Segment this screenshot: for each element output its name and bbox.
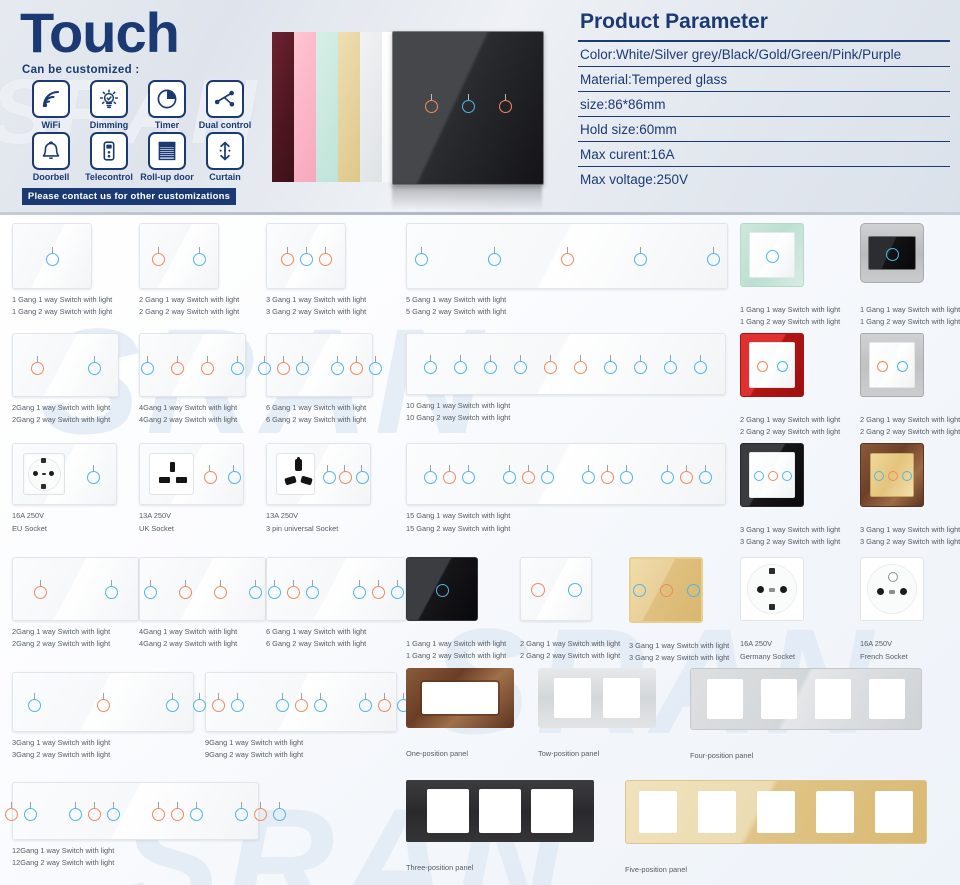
touch-button[interactable]	[424, 355, 437, 373]
socket-germany	[740, 557, 804, 621]
product-caption-line2: Germany Socket	[740, 651, 804, 662]
product-card[interactable]: 12Gang 1 way Switch with light 12Gang 2 …	[12, 782, 259, 868]
feature-label: Timer	[138, 120, 196, 130]
touch-button[interactable]	[634, 355, 647, 373]
touch-button[interactable]	[488, 247, 501, 265]
touch-button[interactable]	[886, 248, 899, 259]
brand-block: Touch Can be customized : WiFi	[8, 4, 248, 205]
touch-button[interactable]	[254, 802, 267, 820]
touch-button[interactable]	[276, 693, 289, 711]
touch-button[interactable]	[391, 580, 404, 598]
touch-button[interactable]	[499, 94, 512, 112]
product-caption-line1: 2 Gang 1 way Switch with light	[740, 414, 840, 425]
remote-control-icon	[90, 132, 128, 170]
touch-button[interactable]	[5, 802, 18, 820]
switch-panel-4gang	[139, 333, 246, 397]
product-card[interactable]: 2 Gang 1 way Switch with light 2 Gang 2 …	[860, 333, 960, 437]
touch-button[interactable]	[31, 356, 44, 374]
touch-button[interactable]	[88, 356, 101, 374]
touch-button[interactable]	[777, 361, 787, 370]
touch-button[interactable]	[287, 580, 300, 598]
feature-timer[interactable]: Timer	[138, 80, 196, 130]
touch-button[interactable]	[152, 247, 165, 265]
product-caption-line2: 1 Gang 2 way Switch with light	[406, 650, 506, 661]
product-caption-line1: 4Gang 1 way Switch with light	[139, 626, 266, 637]
product-card[interactable]: 3Gang 1 way Switch with light 3Gang 2 wa…	[12, 672, 194, 760]
product-caption-line2: 3 Gang 2 way Switch with light	[860, 536, 960, 547]
param-hold-size: Hold size:60mm	[578, 116, 950, 141]
product-caption-line2: 5 Gang 2 way Switch with light	[406, 306, 728, 317]
touch-button[interactable]	[754, 471, 763, 479]
product-card[interactable]: 16A 250V EU Socket	[12, 443, 117, 534]
touch-button[interactable]	[171, 802, 184, 820]
product-caption-line1: 5 Gang 1 way Switch with light	[406, 294, 728, 305]
touch-button[interactable]	[484, 355, 497, 373]
touch-button[interactable]	[295, 693, 308, 711]
touch-button[interactable]	[171, 356, 184, 374]
touch-button[interactable]	[46, 247, 59, 265]
product-card[interactable]: One-position panel	[406, 668, 514, 759]
eu-socket-icon	[23, 453, 65, 495]
product-caption-line1: 13A 250V	[139, 510, 244, 521]
product-caption-line1: 6 Gang 1 way Switch with light	[266, 402, 373, 413]
touch-button[interactable]	[231, 693, 244, 711]
product-caption-line1: 15 Gang 1 way Switch with light	[406, 510, 726, 521]
product-caption-line1: 3 Gang 1 way Switch with light	[266, 294, 366, 305]
frame-one-position	[406, 668, 514, 728]
feature-rollup-door[interactable]: Roll-up door	[138, 132, 196, 182]
product-card[interactable]: 10 Gang 1 way Switch with light 10 Gang …	[406, 333, 726, 423]
product-caption-line1: 16A 250V	[740, 638, 804, 649]
touch-button[interactable]	[561, 247, 574, 265]
touch-button[interactable]	[107, 802, 120, 820]
product-caption-line2: French Socket	[860, 651, 924, 662]
touch-button[interactable]	[144, 580, 157, 598]
product-caption-line2: UK Socket	[139, 523, 244, 534]
touch-button[interactable]	[69, 802, 82, 820]
feature-label: Dual control	[196, 120, 254, 130]
socket-panel-eu	[12, 443, 117, 505]
product-caption-line2: 3 pin universal Socket	[266, 523, 371, 534]
feature-label: Roll-up door	[138, 172, 196, 182]
product-caption-line1: 1 Gang 1 way Switch with light	[860, 304, 960, 315]
product-caption-line1: 2 Gang 1 way Switch with light	[139, 294, 239, 305]
touch-button[interactable]	[331, 356, 344, 374]
product-card[interactable]: 3 Gang 1 way Switch with light 3 Gang 2 …	[740, 443, 840, 547]
touch-button[interactable]	[531, 583, 544, 596]
product-caption-line2: 3 Gang 2 way Switch with light	[629, 652, 729, 663]
product-caption-line2: 10 Gang 2 way Switch with light	[406, 412, 726, 423]
touch-button[interactable]	[231, 356, 244, 374]
product-caption-line2: 2 Gang 2 way Switch with light	[139, 306, 239, 317]
product-card[interactable]: 4Gang 1 way Switch with light 4Gang 2 wa…	[139, 333, 246, 425]
switch-panel-2gang	[139, 223, 219, 289]
product-caption-line1: 16A 250V	[12, 510, 117, 521]
product-card[interactable]: 3 Gang 1 way Switch with light 3 Gang 2 …	[629, 557, 729, 663]
product-caption-line2: 1 Gang 2 way Switch with light	[12, 306, 112, 317]
product-card[interactable]: 3 Gang 1 way Switch with light 3 Gang 2 …	[860, 443, 960, 547]
switch-panel-bronze-3gang	[860, 443, 924, 507]
product-catalog-page: SRAN Touch Can be customized : WiFi	[0, 0, 960, 885]
switch-panel-5gang	[406, 223, 728, 289]
touch-button[interactable]	[544, 355, 557, 373]
product-card[interactable]: 1 Gang 1 way Switch with light 1 Gang 2 …	[860, 223, 960, 327]
feature-label: Telecontrol	[80, 172, 138, 182]
product-card[interactable]: 5 Gang 1 way Switch with light 5 Gang 2 …	[406, 223, 728, 317]
product-card[interactable]: 2Gang 1 way Switch with light 2Gang 2 wa…	[12, 333, 119, 425]
touch-button[interactable]	[214, 580, 227, 598]
touch-button[interactable]	[34, 580, 47, 598]
product-caption-line2: 2 Gang 2 way Switch with light	[860, 426, 960, 437]
product-caption-line1: Four-position panel	[690, 750, 922, 761]
frame-two-position	[538, 668, 656, 728]
switch-panel-6gang-wide	[266, 557, 406, 621]
product-card[interactable]: 4Gang 1 way Switch with light 4Gang 2 wa…	[139, 557, 266, 649]
socket-panel-universal	[266, 443, 371, 505]
touch-button[interactable]	[273, 802, 286, 820]
touch-button[interactable]	[707, 247, 720, 265]
switch-panel-green-1gang	[740, 223, 804, 287]
product-caption-line1: 1 Gang 1 way Switch with light	[740, 304, 840, 315]
touch-button[interactable]	[24, 802, 37, 820]
switch-panel-1gang	[12, 223, 92, 289]
touch-button[interactable]	[359, 693, 372, 711]
product-card[interactable]: Tow-position panel	[538, 668, 656, 759]
hero-reflection	[392, 184, 542, 210]
params-title: Product Parameter	[580, 10, 950, 34]
switch-panel-10gang	[406, 333, 726, 395]
touch-button[interactable]	[766, 250, 779, 261]
param-color: Color:White/Silver grey/Black/Gold/Green…	[578, 40, 950, 66]
touch-button[interactable]	[582, 465, 595, 483]
touch-button[interactable]	[281, 247, 294, 265]
touch-button[interactable]	[204, 465, 216, 483]
product-caption-line2: 4Gang 2 way Switch with light	[139, 414, 246, 425]
touch-button[interactable]	[97, 693, 110, 711]
product-card[interactable]: 13A 250V 3 pin universal Socket	[266, 443, 371, 534]
product-caption-line2: 2Gang 2 way Switch with light	[12, 638, 139, 649]
switch-panel-white-glass-2gang	[520, 557, 592, 621]
touch-button[interactable]	[877, 361, 887, 370]
switch-panel-3gang	[266, 223, 346, 289]
product-caption-line1: 9Gang 1 way Switch with light	[205, 737, 397, 748]
touch-button[interactable]	[633, 584, 645, 596]
switch-panel-2gang-wide2	[12, 557, 139, 621]
touch-button[interactable]	[249, 580, 262, 598]
socket-french	[860, 557, 924, 621]
touch-button[interactable]	[415, 247, 428, 265]
touch-button[interactable]	[687, 584, 699, 596]
touch-button[interactable]	[306, 580, 319, 598]
touch-button[interactable]	[604, 355, 617, 373]
product-caption-line2: 9Gang 2 way Switch with light	[205, 749, 397, 760]
touch-button[interactable]	[372, 580, 385, 598]
switch-panel-black-glass-1gang	[406, 557, 478, 621]
frame-five-position	[625, 780, 927, 844]
product-card[interactable]: 2 Gang 1 way Switch with light 2 Gang 2 …	[520, 557, 620, 661]
touch-button[interactable]	[888, 471, 897, 479]
touch-button[interactable]	[757, 361, 767, 370]
product-caption-line2: 2 Gang 2 way Switch with light	[740, 426, 840, 437]
hero-product-image	[250, 0, 580, 215]
touch-button[interactable]	[152, 802, 165, 820]
feature-doorbell[interactable]: Doorbell	[22, 132, 80, 182]
product-caption-line1: Tow-position panel	[538, 748, 656, 759]
product-caption-line2: 2Gang 2 way Switch with light	[12, 414, 119, 425]
touch-button[interactable]	[522, 465, 535, 483]
feature-dimming[interactable]: Dimming	[80, 80, 138, 130]
uk-socket-icon	[149, 453, 194, 495]
hero-black-switch-panel	[392, 31, 544, 185]
color-strip-purple	[272, 32, 294, 182]
touch-button[interactable]	[378, 693, 391, 711]
touch-button[interactable]	[193, 247, 206, 265]
switch-panel-red-2gang	[740, 333, 804, 397]
product-caption-line1: 2Gang 1 way Switch with light	[12, 626, 139, 637]
touch-button[interactable]	[541, 465, 554, 483]
touch-button[interactable]	[503, 465, 516, 483]
touch-button[interactable]	[296, 356, 309, 374]
switch-panel-gold-3gang	[629, 557, 703, 623]
product-parameter-panel: Product Parameter Color:White/Silver gre…	[578, 6, 950, 191]
product-caption-line2: 6 Gang 2 way Switch with light	[266, 414, 373, 425]
product-caption-line1: 16A 250V	[860, 638, 924, 649]
product-caption-line1: 2 Gang 1 way Switch with light	[520, 638, 620, 649]
color-strip-group	[272, 32, 404, 182]
product-card[interactable]: 2 Gang 1 way Switch with light 2 Gang 2 …	[740, 333, 840, 437]
product-caption-line2: 1 Gang 2 way Switch with light	[860, 316, 960, 327]
touch-button[interactable]	[874, 471, 883, 479]
feature-dual-control[interactable]: Dual control	[196, 80, 254, 130]
touch-button[interactable]	[462, 94, 475, 112]
touch-button[interactable]	[897, 361, 907, 370]
feature-label: Doorbell	[22, 172, 80, 182]
touch-button[interactable]	[424, 465, 437, 483]
color-strip-silver	[360, 32, 382, 182]
touch-button[interactable]	[661, 465, 674, 483]
frame-four-position	[690, 668, 922, 730]
doorbell-icon	[32, 132, 70, 170]
touch-button[interactable]	[694, 355, 707, 373]
product-card[interactable]: 1 Gang 1 way Switch with light 1 Gang 2 …	[406, 557, 506, 661]
timer-clock-icon	[148, 80, 186, 118]
feature-telecontrol[interactable]: Telecontrol	[80, 132, 138, 182]
switch-panel-steel-1gang	[860, 223, 924, 283]
switch-panel-12gang	[12, 782, 259, 840]
touch-button[interactable]	[680, 465, 693, 483]
feature-wifi[interactable]: WiFi	[22, 80, 80, 130]
product-caption-line1: 1 Gang 1 way Switch with light	[12, 294, 112, 305]
color-strip-gold	[338, 32, 360, 182]
touch-button[interactable]	[88, 802, 101, 820]
feature-label: Dimming	[80, 120, 138, 130]
touch-button[interactable]	[166, 693, 179, 711]
product-caption-line1: 1 Gang 1 way Switch with light	[406, 638, 506, 649]
product-card[interactable]: 2Gang 1 way Switch with light 2Gang 2 wa…	[12, 557, 139, 649]
touch-button[interactable]	[462, 465, 475, 483]
touch-button[interactable]	[699, 465, 712, 483]
touch-button[interactable]	[212, 693, 225, 711]
product-caption-line1: Five-position panel	[625, 864, 927, 875]
product-card[interactable]: Three-position panel	[406, 780, 594, 873]
touch-button[interactable]	[105, 580, 118, 598]
touch-button[interactable]	[514, 355, 527, 373]
product-card[interactable]: 16A 250V French Socket	[860, 557, 924, 662]
param-material: Material:Tempered glass	[578, 66, 950, 91]
touch-button[interactable]	[300, 247, 313, 265]
touch-button[interactable]	[228, 465, 240, 483]
touch-button[interactable]	[235, 802, 248, 820]
frame-three-position	[406, 780, 594, 842]
product-caption-line1: 3 Gang 1 way Switch with light	[860, 524, 960, 535]
hero-button-row	[393, 94, 543, 112]
touch-button[interactable]	[353, 580, 366, 598]
product-caption-line1: 3 Gang 1 way Switch with light	[629, 640, 729, 651]
touch-button[interactable]	[436, 584, 449, 595]
touch-button[interactable]	[268, 580, 281, 598]
switch-panel-2gang-wide	[12, 333, 119, 397]
product-caption-line1: 3 Gang 1 way Switch with light	[740, 524, 840, 535]
universal-socket-icon	[276, 453, 315, 495]
product-card[interactable]: 16A 250V Germany Socket	[740, 557, 804, 662]
product-caption-line2: EU Socket	[12, 523, 117, 534]
touch-button[interactable]	[782, 471, 791, 479]
product-caption-line2: 3 Gang 2 way Switch with light	[266, 306, 366, 317]
touch-button[interactable]	[141, 356, 154, 374]
product-card[interactable]: 15 Gang 1 way Switch with light 15 Gang …	[406, 443, 726, 534]
touch-button[interactable]	[190, 802, 203, 820]
touch-button[interactable]	[634, 247, 647, 265]
touch-button[interactable]	[768, 471, 777, 479]
product-caption-line1: 4Gang 1 way Switch with light	[139, 402, 246, 413]
header-banner: SRAN Touch Can be customized : WiFi	[0, 0, 960, 215]
touch-button[interactable]	[902, 471, 911, 479]
touch-button[interactable]	[568, 583, 581, 596]
product-card[interactable]: 6 Gang 1 way Switch with light 6 Gang 2 …	[266, 557, 406, 649]
touch-button[interactable]	[339, 465, 350, 483]
product-caption-line2: 15 Gang 2 way Switch with light	[406, 523, 726, 534]
dimming-bulb-icon	[90, 80, 128, 118]
switch-panel-black-3gang	[740, 443, 804, 507]
touch-button[interactable]	[350, 356, 363, 374]
curtain-updown-icon	[206, 132, 244, 170]
touch-button[interactable]	[314, 693, 327, 711]
touch-button[interactable]	[443, 465, 456, 483]
switch-panel-15gang	[406, 443, 726, 505]
roll-up-door-icon	[148, 132, 186, 170]
touch-button[interactable]	[28, 693, 41, 711]
product-card[interactable]: 3 Gang 1 way Switch with light 3 Gang 2 …	[266, 223, 366, 317]
param-max-voltage: Max voltage:250V	[578, 166, 950, 191]
switch-panel-3gang-wide	[12, 672, 194, 732]
touch-button[interactable]	[454, 355, 467, 373]
feature-curtain[interactable]: Curtain	[196, 132, 254, 182]
product-caption-line1: 12Gang 1 way Switch with light	[12, 845, 259, 856]
touch-button[interactable]	[369, 356, 382, 374]
switch-panel-4gang-wide	[139, 557, 266, 621]
touch-button[interactable]	[277, 356, 290, 374]
color-strip-pink	[294, 32, 316, 182]
touch-button[interactable]	[323, 465, 334, 483]
product-card[interactable]: 1 Gang 1 way Switch with light 1 Gang 2 …	[12, 223, 112, 317]
touch-button[interactable]	[574, 355, 587, 373]
touch-button[interactable]	[620, 465, 633, 483]
brand-title: Touch	[20, 4, 248, 62]
touch-button[interactable]	[319, 247, 332, 265]
product-caption-line1: 3Gang 1 way Switch with light	[12, 737, 194, 748]
product-caption-line2: 4Gang 2 way Switch with light	[139, 638, 266, 649]
wifi-icon	[32, 80, 70, 118]
switch-panel-9gang	[205, 672, 397, 732]
product-caption-line1: 10 Gang 1 way Switch with light	[406, 400, 726, 411]
contact-bar[interactable]: Please contact us for other customizatio…	[22, 188, 236, 205]
product-card[interactable]: 9Gang 1 way Switch with light 9Gang 2 wa…	[205, 672, 397, 760]
param-size: size:86*86mm	[578, 91, 950, 116]
product-card[interactable]: 2 Gang 1 way Switch with light 2 Gang 2 …	[139, 223, 239, 317]
touch-button[interactable]	[660, 584, 672, 596]
product-caption-line2: 2 Gang 2 way Switch with light	[520, 650, 620, 661]
switch-panel-6gang	[266, 333, 373, 397]
product-card[interactable]: 6 Gang 1 way Switch with light 6 Gang 2 …	[266, 333, 373, 425]
feature-label: WiFi	[22, 120, 80, 130]
touch-button[interactable]	[179, 580, 192, 598]
color-strip-green	[316, 32, 338, 182]
product-caption-line2: 6 Gang 2 way Switch with light	[266, 638, 406, 649]
feature-label: Curtain	[196, 172, 254, 182]
product-caption-line2: 1 Gang 2 way Switch with light	[740, 316, 840, 327]
product-card[interactable]: 1 Gang 1 way Switch with light 1 Gang 2 …	[740, 223, 840, 327]
dual-control-icon	[206, 80, 244, 118]
touch-button[interactable]	[87, 465, 100, 483]
product-card[interactable]: 13A 250V UK Socket	[139, 443, 244, 534]
touch-button[interactable]	[258, 356, 271, 374]
touch-button[interactable]	[664, 355, 677, 373]
brand-subtitle: Can be customized :	[22, 64, 248, 76]
switch-panel-steel-2gang	[860, 333, 924, 397]
product-caption-line1: Three-position panel	[406, 862, 594, 873]
touch-button[interactable]	[425, 94, 438, 112]
product-card[interactable]: Five-position panel	[625, 780, 927, 875]
touch-button[interactable]	[193, 693, 206, 711]
product-caption-line1: One-position panel	[406, 748, 514, 759]
touch-button[interactable]	[201, 356, 214, 374]
param-max-current: Max curent:16A	[578, 141, 950, 166]
touch-button[interactable]	[356, 465, 367, 483]
product-card[interactable]: Four-position panel	[690, 668, 922, 761]
product-caption-line1: 2 Gang 1 way Switch with light	[860, 414, 960, 425]
product-caption-line1: 13A 250V	[266, 510, 371, 521]
product-caption-line2: 12Gang 2 way Switch with light	[12, 857, 259, 868]
touch-button[interactable]	[601, 465, 614, 483]
product-caption-line2: 3 Gang 2 way Switch with light	[740, 536, 840, 547]
product-caption-line1: 2Gang 1 way Switch with light	[12, 402, 119, 413]
socket-panel-uk	[139, 443, 244, 505]
feature-icon-grid: WiFi Dimming	[22, 80, 254, 184]
product-caption-line2: 3Gang 2 way Switch with light	[12, 749, 194, 760]
product-caption-line1: 6 Gang 1 way Switch with light	[266, 626, 406, 637]
catalog-grid: SRAN SRAN SRAN 1 Gang 1 way Switch with …	[0, 215, 960, 885]
